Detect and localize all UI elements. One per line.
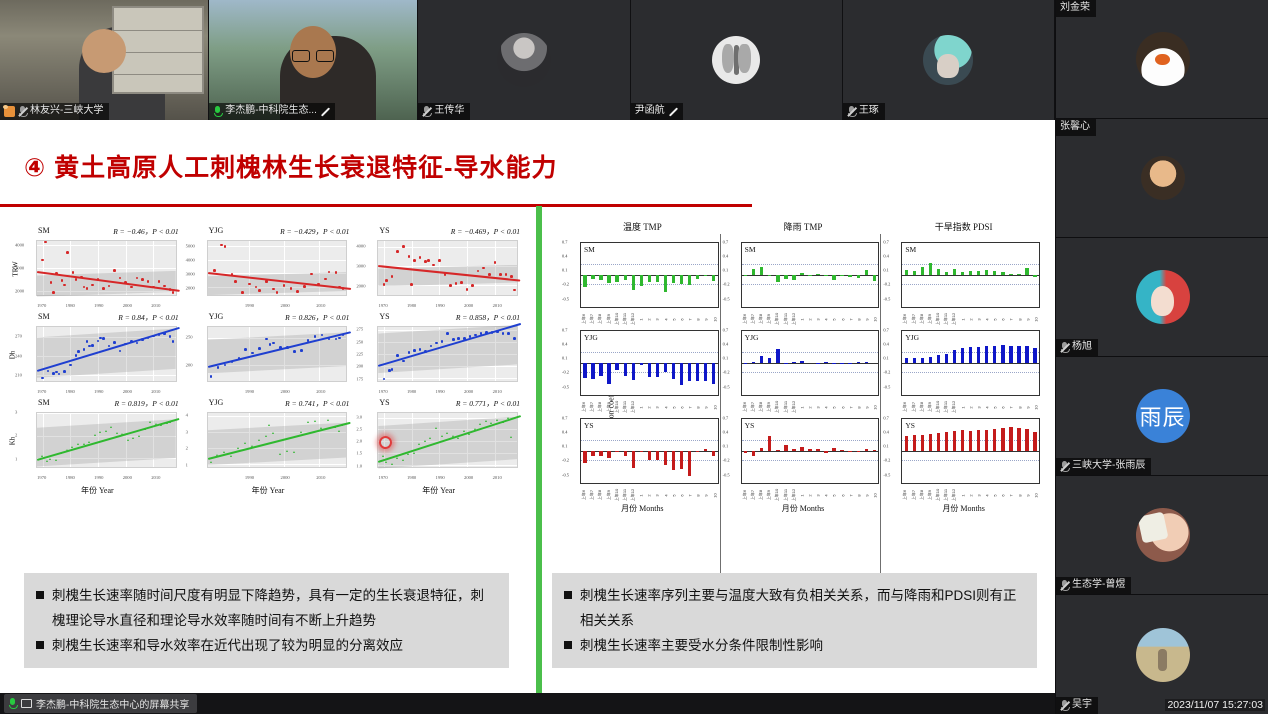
- x-tick-label: 5: [832, 318, 837, 320]
- panel-site-label: SM: [38, 398, 50, 407]
- bar: [857, 362, 860, 363]
- data-point: [510, 275, 513, 278]
- data-point: [496, 419, 498, 421]
- x-tick-label: 上年6: [581, 490, 587, 500]
- y-tick-label: 0.4: [723, 342, 729, 347]
- data-point: [279, 453, 281, 455]
- data-point: [276, 291, 279, 294]
- panel-stat-label: R = −0.46，P < 0.01: [113, 226, 178, 237]
- nameplate-rail-4: 生态学-曾煜: [1056, 577, 1131, 594]
- x-tick-label: 8: [1017, 318, 1022, 320]
- x-tick-label: 上年12: [630, 489, 636, 501]
- mic-active-icon: [8, 698, 17, 709]
- x-tick-label: 1970: [378, 303, 387, 308]
- y-tick-label: 270: [15, 333, 22, 338]
- x-tick-label: 8: [1017, 406, 1022, 408]
- data-point: [293, 451, 295, 453]
- x-tick-label: 1990: [94, 389, 103, 394]
- page-title: ④ 黄土高原人工刺槐林生长衰退特征-导水能力: [24, 148, 557, 184]
- x-tick-label: 3: [816, 406, 821, 408]
- bar: [857, 275, 860, 278]
- axis-label-x: 月份 Months: [562, 500, 723, 514]
- bar: [1033, 348, 1036, 363]
- x-tick-label: 2000: [464, 389, 473, 394]
- scatter-panel-kh-ys: YSR = 0.771，P < 0.011.01.52.02.53.019701…: [355, 398, 522, 484]
- data-point: [244, 442, 246, 444]
- x-tick-label: 5: [832, 494, 837, 496]
- bullet-square-icon: [564, 591, 572, 599]
- reference-line: [902, 372, 1039, 373]
- y-tick-label: -0.2: [723, 370, 730, 375]
- x-tick-label: 6: [840, 406, 845, 408]
- panel-site-label: YJG: [209, 398, 224, 407]
- data-point: [300, 349, 303, 352]
- mic-muted-icon: [847, 106, 856, 117]
- data-point: [469, 335, 472, 338]
- y-tick-label: -0.5: [883, 296, 890, 301]
- rail-tile-2[interactable]: 杨旭: [1056, 238, 1268, 357]
- x-tick-label: 7: [848, 494, 853, 496]
- bar-column-1: SM0.70.40.1-0.2-0.5上年6上年7上年8上年9上年10上年11上…: [723, 236, 884, 500]
- data-point: [110, 426, 112, 428]
- x-tick-label: 1980: [66, 475, 75, 480]
- axis-label-y: Kh: [8, 437, 16, 446]
- plot-area: [741, 418, 880, 484]
- bar: [865, 449, 868, 451]
- x-tick-label: 上年6: [902, 314, 908, 324]
- x-tick-label: 10: [873, 493, 878, 497]
- data-point: [88, 441, 90, 443]
- y-tick-label: 0.1: [723, 356, 729, 361]
- x-tick-label: 2: [647, 494, 652, 496]
- x-tick-label: 上年9: [927, 490, 933, 500]
- data-point: [210, 375, 213, 378]
- y-tick-label: 0.7: [723, 328, 729, 333]
- y-tick-label: -0.5: [562, 384, 569, 389]
- bar: [672, 451, 675, 470]
- bar: [583, 451, 586, 463]
- data-point: [485, 331, 488, 334]
- participant-name: 尹函航: [635, 104, 665, 118]
- plot-area: [580, 418, 719, 484]
- panel-site-label: YS: [379, 398, 389, 407]
- bar: [961, 430, 964, 451]
- bar: [583, 363, 586, 378]
- data-point: [303, 285, 306, 288]
- bullet-text: 刺槐生长速率主要受水分条件限制性影响: [580, 633, 1023, 658]
- data-point: [283, 284, 286, 287]
- bar: [1009, 427, 1012, 451]
- nameplate-3: 尹函航: [631, 103, 683, 120]
- data-point: [116, 432, 118, 434]
- plot-area: [377, 240, 518, 296]
- bar: [607, 275, 610, 283]
- y-tick-label: -0.2: [562, 282, 569, 287]
- data-point: [234, 280, 237, 283]
- data-point: [97, 278, 100, 281]
- x-tick-label: 1980: [66, 389, 75, 394]
- y-tick-label: 250: [186, 335, 193, 340]
- plot-area: [580, 242, 719, 308]
- x-tick-label: 上年9: [766, 314, 772, 324]
- data-point: [258, 347, 261, 350]
- bar: [792, 275, 795, 280]
- data-point: [463, 430, 465, 432]
- x-tick-label: 上年8: [758, 402, 764, 412]
- data-point: [241, 291, 244, 294]
- bar: [712, 363, 715, 384]
- data-point: [307, 421, 309, 423]
- data-point: [385, 461, 387, 463]
- data-point: [258, 289, 261, 292]
- x-tick-label: 7: [688, 406, 693, 408]
- data-point: [169, 421, 171, 423]
- avatar: 雨辰: [1136, 389, 1190, 443]
- data-point: [55, 459, 57, 461]
- y-tick-label: 0.4: [562, 254, 568, 259]
- data-point: [94, 434, 96, 436]
- y-tick-label: 2: [15, 433, 17, 438]
- data-point: [419, 348, 422, 351]
- bar: [712, 451, 715, 456]
- bar: [599, 451, 602, 456]
- bar: [937, 355, 940, 363]
- bar-chart-grid: 相关系数 Correlation coefficients 温度 TMP降雨 T…: [562, 220, 1044, 632]
- data-point: [130, 340, 133, 343]
- mic-active-icon: [213, 106, 222, 117]
- video-tile-3[interactable]: 尹函航: [631, 0, 843, 120]
- x-tick-label: 9: [1025, 406, 1030, 408]
- data-point: [286, 450, 288, 452]
- accent-divider: [536, 206, 542, 693]
- share-notice-text: 李杰鹏-中科院生态中心的屏幕共享: [36, 696, 189, 711]
- data-point: [124, 281, 127, 284]
- zero-line: [742, 363, 879, 364]
- participant-name: 杨旭: [1072, 340, 1092, 354]
- data-point: [452, 435, 454, 437]
- bar: [1025, 346, 1028, 363]
- data-point: [160, 424, 162, 426]
- plot-area: [741, 330, 880, 396]
- y-tick-label: -0.5: [883, 384, 890, 389]
- bar: [591, 363, 594, 379]
- x-tick-label: 上年6: [902, 490, 908, 500]
- bar: [969, 347, 972, 363]
- bar: [913, 435, 916, 451]
- bar-panel-ys: YS0.70.40.1-0.2-0.5上年6上年7上年8上年9上年10上年11上…: [562, 412, 723, 500]
- bar: [768, 436, 771, 451]
- y-tick-label: 3000: [356, 264, 365, 269]
- panel-site-label: SM: [745, 245, 756, 254]
- x-tick-label: 7: [688, 318, 693, 320]
- data-point: [488, 273, 491, 276]
- bar: [792, 362, 795, 363]
- data-point: [382, 455, 384, 457]
- x-tick-label: 8: [856, 318, 861, 320]
- x-tick-label: 9: [704, 318, 709, 320]
- data-point: [63, 284, 66, 287]
- participant-name: 三峡大学-张雨辰: [1072, 459, 1145, 473]
- y-tick-label: 0.4: [883, 342, 889, 347]
- x-tick-label: 上年7: [911, 490, 917, 500]
- rail-tile-5[interactable]: 吴宇 2023/11/07 15:27:03: [1056, 595, 1268, 714]
- x-tick-label: 上年8: [597, 402, 603, 412]
- bar: [688, 363, 691, 381]
- data-point: [155, 423, 157, 425]
- mic-muted-icon: [1060, 580, 1069, 591]
- x-tick-label: 4: [663, 494, 668, 496]
- x-tick-label: 6: [679, 406, 684, 408]
- x-tick-label: 4: [663, 318, 668, 320]
- bar: [977, 271, 980, 275]
- bar: [832, 448, 835, 451]
- x-tick-label: 上年9: [606, 402, 612, 412]
- y-tick-label: 4000: [356, 244, 365, 249]
- data-point: [413, 452, 415, 454]
- screen-share-indicator[interactable]: 李杰鹏-中科院生态中心的屏幕共享: [4, 694, 197, 713]
- x-tick-label: 9: [704, 494, 709, 496]
- y-tick-label: -0.2: [883, 370, 890, 375]
- bar: [632, 363, 635, 380]
- data-point: [494, 261, 497, 264]
- bar: [985, 430, 988, 451]
- panel-site-label: YJG: [209, 226, 224, 235]
- participant-name: 吴宇: [1072, 698, 1092, 712]
- y-tick-label: 0.1: [723, 444, 729, 449]
- x-tick-label: 2010: [316, 389, 325, 394]
- scatter-panel-dh-sm: SMR = 0.84，P < 0.01Dh2102402701970198019…: [14, 312, 181, 398]
- bar-column-0: SM0.70.40.1-0.2-0.5上年6上年7上年8上年9上年10上年11上…: [562, 236, 723, 500]
- nameplate-rail-0: 刘金荣: [1056, 0, 1096, 17]
- x-tick-label: 上年7: [750, 402, 756, 412]
- x-tick-label: 1990: [94, 303, 103, 308]
- data-point: [502, 421, 504, 423]
- shared-screen-slide: ④ 黄土高原人工刺槐林生长衰退特征-导水能力 SMR = −0.46，P < 0…: [0, 120, 1055, 693]
- data-point: [468, 433, 470, 435]
- data-point: [455, 282, 458, 285]
- bullet-item: 刺槐生长速率随时间尺度有明显下降趋势，具有一定的生长衰退特征，刺槐理论导水直径和…: [36, 583, 495, 633]
- x-tick-label: 4: [984, 494, 989, 496]
- x-tick-label: 2000: [123, 303, 132, 308]
- data-point: [327, 419, 329, 421]
- data-point: [446, 332, 449, 335]
- bar: [800, 361, 803, 363]
- data-point: [80, 276, 83, 279]
- x-tick-label: 8: [1017, 494, 1022, 496]
- data-point: [210, 461, 212, 463]
- reference-line: [581, 440, 718, 441]
- data-point: [127, 439, 129, 441]
- x-tick-label: 5: [993, 318, 998, 320]
- rail-tile-1[interactable]: 张馨心: [1056, 119, 1268, 238]
- timestamp: 2023/11/07 15:27:03: [1165, 699, 1265, 711]
- data-point: [324, 278, 327, 281]
- rail-tile-4[interactable]: 生态学-曾煜: [1056, 476, 1268, 595]
- bar: [648, 451, 651, 460]
- data-point: [338, 286, 341, 289]
- video-tile-4[interactable]: 王琢: [843, 0, 1055, 120]
- bar: [977, 347, 980, 363]
- plot-area: [377, 326, 518, 382]
- data-point: [338, 430, 340, 432]
- data-point: [265, 435, 267, 437]
- y-tick-label: 0.7: [723, 416, 729, 421]
- bar: [632, 451, 635, 468]
- bar: [776, 450, 779, 451]
- bar: [969, 431, 972, 451]
- bar: [848, 275, 851, 277]
- data-point: [213, 269, 216, 272]
- data-point: [251, 445, 253, 447]
- bar: [824, 451, 827, 453]
- y-tick-label: 3: [15, 410, 17, 415]
- user-avatar-icon: [4, 106, 15, 117]
- x-tick-label: 上年6: [742, 490, 748, 500]
- bar: [832, 275, 835, 280]
- x-tick-label: 1990: [436, 303, 445, 308]
- data-point: [172, 340, 175, 343]
- data-point: [513, 289, 516, 292]
- x-tick-label: 2: [968, 318, 973, 320]
- panel-site-label: YJG: [905, 333, 919, 342]
- x-tick-label: 7: [1009, 494, 1014, 496]
- reference-line: [581, 264, 718, 265]
- nameplate-4: 王琢: [843, 103, 885, 120]
- reference-line: [581, 284, 718, 285]
- video-tile-2[interactable]: 王传华: [418, 0, 630, 120]
- data-point: [408, 351, 411, 354]
- bar: [985, 346, 988, 363]
- data-point: [49, 458, 51, 460]
- video-tile-1[interactable]: 李杰鹏-中科院生态...: [209, 0, 418, 120]
- data-point: [293, 350, 296, 353]
- data-point: [460, 281, 463, 284]
- x-tick-label: 10: [1033, 405, 1038, 409]
- x-tick-label: 2000: [123, 389, 132, 394]
- y-tick-label: 0.7: [883, 328, 889, 333]
- y-tick-label: -0.2: [883, 282, 890, 287]
- x-tick-label: 9: [704, 406, 709, 408]
- x-tick-label: 上年6: [581, 402, 587, 412]
- x-tick-label: 上年7: [911, 402, 917, 412]
- video-tile-0[interactable]: 林友兴-三峡大学: [0, 0, 209, 120]
- data-point: [429, 437, 431, 439]
- y-tick-label: 2: [186, 446, 188, 451]
- nameplate-rail-1: 张馨心: [1056, 119, 1096, 136]
- x-tick-label: 上年7: [750, 314, 756, 324]
- participant-rail[interactable]: 刘金荣 张馨心 杨旭 雨辰 三峡大学-张雨辰: [1055, 0, 1268, 714]
- x-tick-label: 4: [824, 494, 829, 496]
- bar: [640, 275, 643, 286]
- x-tick-label: 1: [799, 494, 804, 496]
- bar: [664, 275, 667, 292]
- data-point: [446, 432, 448, 434]
- bar: [607, 363, 610, 384]
- scatter-panel-dh-ys: YSR = 0.858，P < 0.0117520022525027519701…: [355, 312, 522, 398]
- data-point: [385, 279, 388, 282]
- panel-stat-label: R = 0.826，P < 0.01: [285, 312, 349, 323]
- data-point: [63, 370, 66, 373]
- rail-tile-3[interactable]: 雨辰 三峡大学-张雨辰: [1056, 357, 1268, 476]
- data-point: [75, 278, 78, 281]
- avatar: [923, 35, 973, 85]
- x-tick-label: 上年7: [911, 314, 917, 324]
- x-tick-label: 上年8: [597, 314, 603, 324]
- x-tick-label: 1980: [66, 303, 75, 308]
- bar: [921, 358, 924, 363]
- x-tick-label: 2010: [151, 389, 160, 394]
- plot-area: [207, 412, 348, 468]
- data-point: [490, 422, 492, 424]
- bar-panel-yjg: YJG0.70.40.1-0.2-0.5上年6上年7上年8上年9上年10上年11…: [562, 324, 723, 412]
- x-tick-label: 1: [960, 406, 965, 408]
- x-tick-label: 5: [671, 318, 676, 320]
- data-point: [418, 443, 420, 445]
- data-point: [296, 290, 299, 293]
- bar: [752, 451, 755, 456]
- x-tick-label: 上年8: [758, 314, 764, 324]
- participant-name: 李杰鹏-中科院生态...: [225, 104, 317, 118]
- participant-name: 王琢: [859, 104, 879, 118]
- x-tick-label: 1990: [245, 475, 254, 480]
- bar: [640, 363, 643, 365]
- y-tick-label: -0.5: [723, 472, 730, 477]
- axis-label-x: 月份 Months: [723, 500, 884, 514]
- x-tick-label: 上年11: [783, 489, 789, 501]
- data-point: [290, 287, 293, 290]
- x-tick-label: 3: [976, 406, 981, 408]
- x-tick-label: 7: [688, 494, 693, 496]
- bar: [953, 350, 956, 363]
- panel-site-label: YJG: [745, 333, 759, 342]
- bar: [913, 358, 916, 363]
- data-point: [341, 424, 343, 426]
- glasses-decor: [292, 50, 334, 60]
- x-tick-label: 2000: [464, 303, 473, 308]
- plot-area: [207, 326, 348, 382]
- data-point: [485, 420, 487, 422]
- data-point: [163, 285, 166, 288]
- x-tick-label: 2000: [123, 475, 132, 480]
- panel-site-label: YS: [379, 226, 389, 235]
- x-tick-label: 上年9: [766, 490, 772, 500]
- y-tick-label: 200: [186, 363, 193, 368]
- y-tick-label: 250: [356, 339, 363, 344]
- data-point: [265, 338, 268, 341]
- nameplate-1: 李杰鹏-中科院生态...: [209, 103, 335, 120]
- y-tick-label: 0.7: [883, 240, 889, 245]
- x-tick-label: 10: [873, 405, 878, 409]
- plot-area: [207, 240, 348, 296]
- y-tick-label: 0.7: [562, 328, 568, 333]
- rail-tile-0[interactable]: 刘金荣: [1056, 0, 1268, 119]
- reference-line: [902, 460, 1039, 461]
- mic-muted-icon: [18, 106, 27, 117]
- scatter-chart-grid: SMR = −0.46，P < 0.01TRW20003000400019701…: [12, 226, 524, 516]
- bar: [937, 433, 940, 451]
- bar: [624, 451, 627, 456]
- bar: [648, 363, 651, 377]
- x-tick-label: 4: [663, 406, 668, 408]
- x-tick-label: 上年6: [902, 402, 908, 412]
- bar: [873, 275, 876, 281]
- panel-stat-label: R = −0.469，P < 0.01: [451, 226, 520, 237]
- avatar: [1136, 270, 1190, 324]
- x-tick-label: 上年7: [589, 490, 595, 500]
- webcam-feed-office: [0, 0, 208, 120]
- participant-name: 林友兴-三峡大学: [30, 104, 103, 118]
- data-point: [342, 287, 345, 290]
